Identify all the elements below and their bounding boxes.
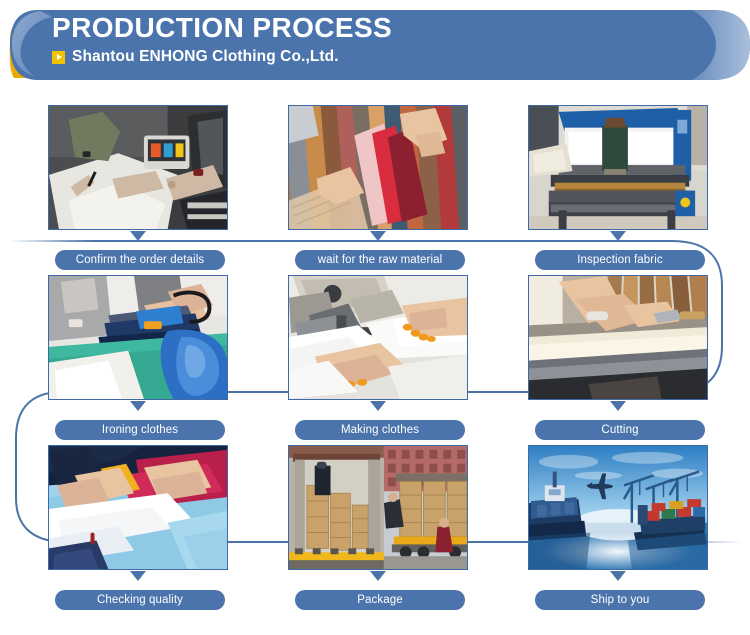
step-arrow-icon bbox=[610, 231, 626, 241]
sewing-machine-photo bbox=[288, 275, 468, 400]
step-label[interactable]: Cutting bbox=[535, 420, 705, 440]
company-line: Shantou ENHONG Clothing Co.,Ltd. bbox=[52, 48, 652, 66]
step-label[interactable]: Inspection fabric bbox=[535, 250, 705, 270]
process-step: Inspection fabric bbox=[528, 105, 708, 230]
step-arrow-icon bbox=[370, 231, 386, 241]
step-arrow-icon bbox=[130, 401, 146, 411]
process-step: Cutting bbox=[528, 275, 708, 400]
container-loading-photo bbox=[288, 445, 468, 570]
quality-check-photo bbox=[48, 445, 228, 570]
page-title: PRODUCTION PROCESS bbox=[52, 11, 652, 45]
step-label[interactable]: Confirm the order details bbox=[55, 250, 225, 270]
step-label[interactable]: Ship to you bbox=[535, 590, 705, 610]
ironing-photo bbox=[48, 275, 228, 400]
process-step: wait for the raw material bbox=[288, 105, 468, 230]
play-triangle-icon bbox=[52, 51, 65, 64]
process-step: Making clothes bbox=[288, 275, 468, 400]
process-row-2: Ironing clothes bbox=[0, 275, 750, 445]
order-meeting-photo bbox=[48, 105, 228, 230]
company-name: Shantou ENHONG Clothing Co.,Ltd. bbox=[72, 48, 339, 66]
step-label[interactable]: Package bbox=[295, 590, 465, 610]
process-step: Ironing clothes bbox=[48, 275, 228, 400]
step-label[interactable]: Checking quality bbox=[55, 590, 225, 610]
fabric-cutting-photo bbox=[528, 275, 708, 400]
process-step: Confirm the order details bbox=[48, 105, 228, 230]
step-arrow-icon bbox=[130, 571, 146, 581]
step-arrow-icon bbox=[610, 401, 626, 411]
step-arrow-icon bbox=[370, 571, 386, 581]
header-banner: PRODUCTION PROCESS Shantou ENHONG Clothi… bbox=[0, 0, 750, 90]
step-label[interactable]: wait for the raw material bbox=[295, 250, 465, 270]
step-label[interactable]: Ironing clothes bbox=[55, 420, 225, 440]
step-arrow-icon bbox=[130, 231, 146, 241]
process-step: Checking quality bbox=[48, 445, 228, 570]
production-process-infographic: PRODUCTION PROCESS Shantou ENHONG Clothi… bbox=[0, 0, 750, 635]
step-label[interactable]: Making clothes bbox=[295, 420, 465, 440]
step-arrow-icon bbox=[370, 401, 386, 411]
process-step: Package bbox=[288, 445, 468, 570]
shipping-logistics-photo bbox=[528, 445, 708, 570]
banner-text-block: PRODUCTION PROCESS Shantou ENHONG Clothi… bbox=[52, 11, 652, 77]
step-arrow-icon bbox=[610, 571, 626, 581]
fabric-swatches-photo bbox=[288, 105, 468, 230]
process-step: Ship to you bbox=[528, 445, 708, 570]
fabric-inspection-machine-photo bbox=[528, 105, 708, 230]
process-row-3: Checking quality bbox=[0, 445, 750, 620]
process-row-1: Confirm the order details bbox=[0, 105, 750, 275]
